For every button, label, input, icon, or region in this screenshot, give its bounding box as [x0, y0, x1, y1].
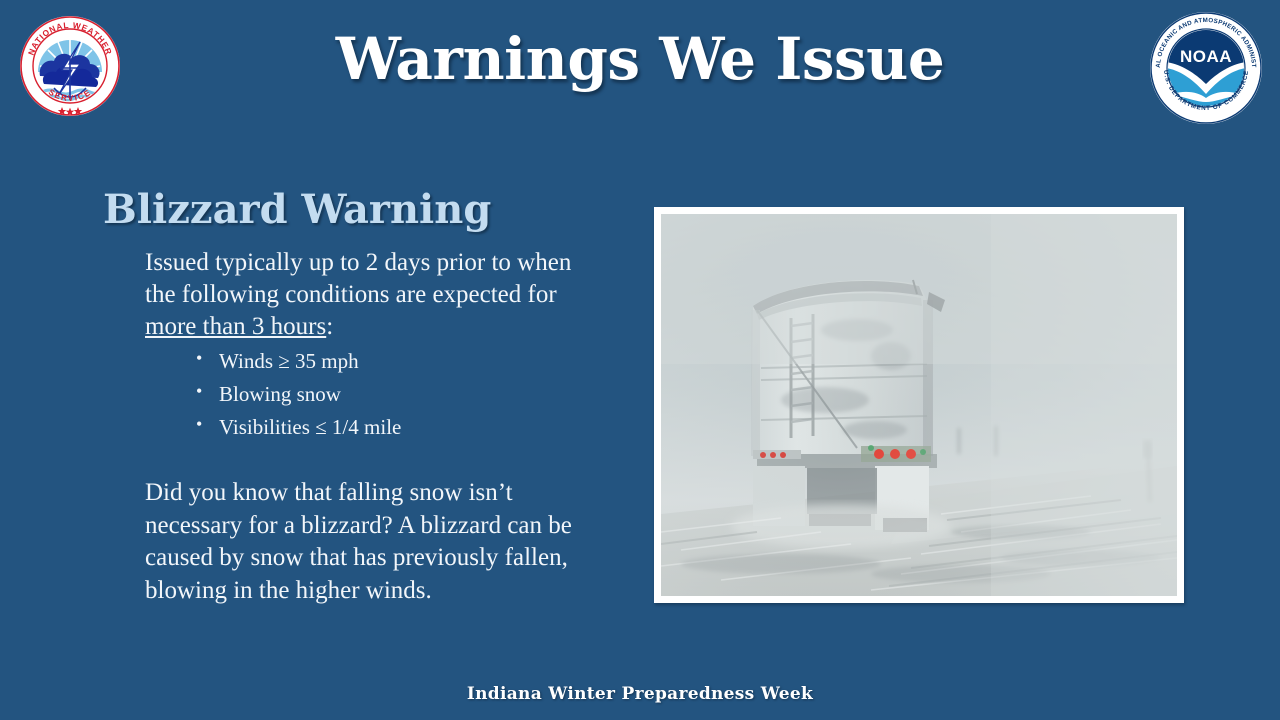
footer-text: Indiana Winter Preparedness Week: [0, 684, 1280, 704]
intro-text-before: Issued typically up to 2 days prior to w…: [145, 249, 571, 308]
slide-canvas: NATIONAL WEATHER SERVICE Warnings We Iss…: [0, 0, 1280, 720]
intro-paragraph: Issued typically up to 2 days prior to w…: [145, 247, 575, 343]
list-item: Visibilities ≤ 1/4 mile: [196, 411, 596, 444]
criteria-list: Winds ≥ 35 mph Blowing snow Visibilities…: [196, 345, 596, 443]
noaa-acronym: NOAA: [1180, 47, 1232, 66]
page-title: Warnings We Issue: [0, 28, 1280, 91]
list-item: Winds ≥ 35 mph: [196, 345, 596, 378]
noaa-logo: NOAA NATIONAL OCEANIC AND ATMOSPHERIC AD…: [1148, 10, 1264, 126]
section-heading: Blizzard Warning: [103, 188, 491, 232]
intro-text-underlined: more than 3 hours: [145, 313, 326, 340]
did-you-know-note: Did you know that falling snow isn’t nec…: [145, 477, 600, 607]
intro-text-after: :: [326, 313, 333, 340]
photo-frame: [654, 207, 1184, 603]
blizzard-truck-photo: [661, 214, 1177, 596]
list-item: Blowing snow: [196, 378, 596, 411]
